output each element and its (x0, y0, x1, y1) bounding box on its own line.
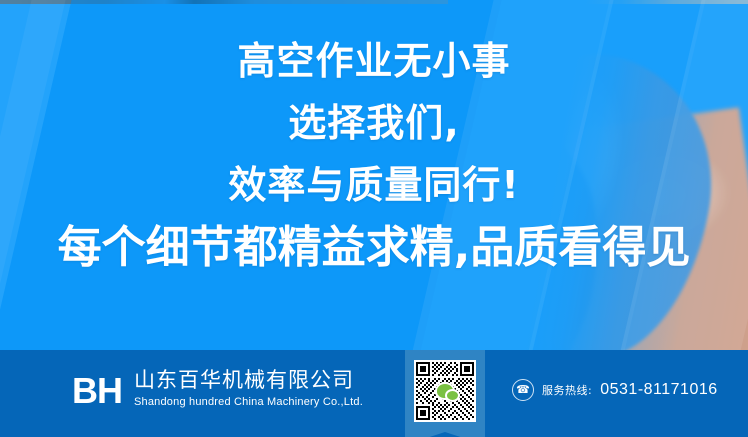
qr-code[interactable] (414, 360, 476, 422)
company-names: 山东百华机械有限公司 Shandong hundred China Machin… (134, 368, 363, 410)
company-name-cn: 山东百华机械有限公司 (134, 368, 363, 393)
footer-content: BH 山东百华机械有限公司 Shandong hundred China Mac… (0, 350, 748, 437)
hotline-number: 0531-81171016 (600, 381, 717, 399)
footer-bar: BH 山东百华机械有限公司 Shandong hundred China Mac… (0, 350, 748, 437)
hotline-block: ☎ 服务热线: 0531-81171016 (512, 379, 718, 401)
headline-line-1: 高空作业无小事 (237, 38, 510, 84)
company-name-en: Shandong hundred China Machinery Co.,Ltd… (134, 395, 363, 410)
headline-line-4: 每个细节都精益求精,品质看得见 (58, 222, 691, 274)
bh-logo: BH (72, 372, 122, 410)
wechat-logo-icon (437, 384, 453, 398)
hotline-label: 服务热线: (542, 382, 592, 398)
company-brand: BH 山东百华机械有限公司 Shandong hundred China Mac… (72, 368, 363, 410)
headline-group: 高空作业无小事 选择我们, 效率与质量同行! 每个细节都精益求精,品质看得见 (0, 0, 748, 355)
qr-ribbon (405, 350, 485, 432)
qr-image (416, 362, 474, 420)
phone-icon: ☎ (512, 379, 534, 401)
headline-line-3: 效率与质量同行! (228, 162, 519, 208)
promo-banner: 高空作业无小事 选择我们, 效率与质量同行! 每个细节都精益求精,品质看得见 B… (0, 0, 748, 437)
headline-line-2: 选择我们, (288, 100, 459, 146)
